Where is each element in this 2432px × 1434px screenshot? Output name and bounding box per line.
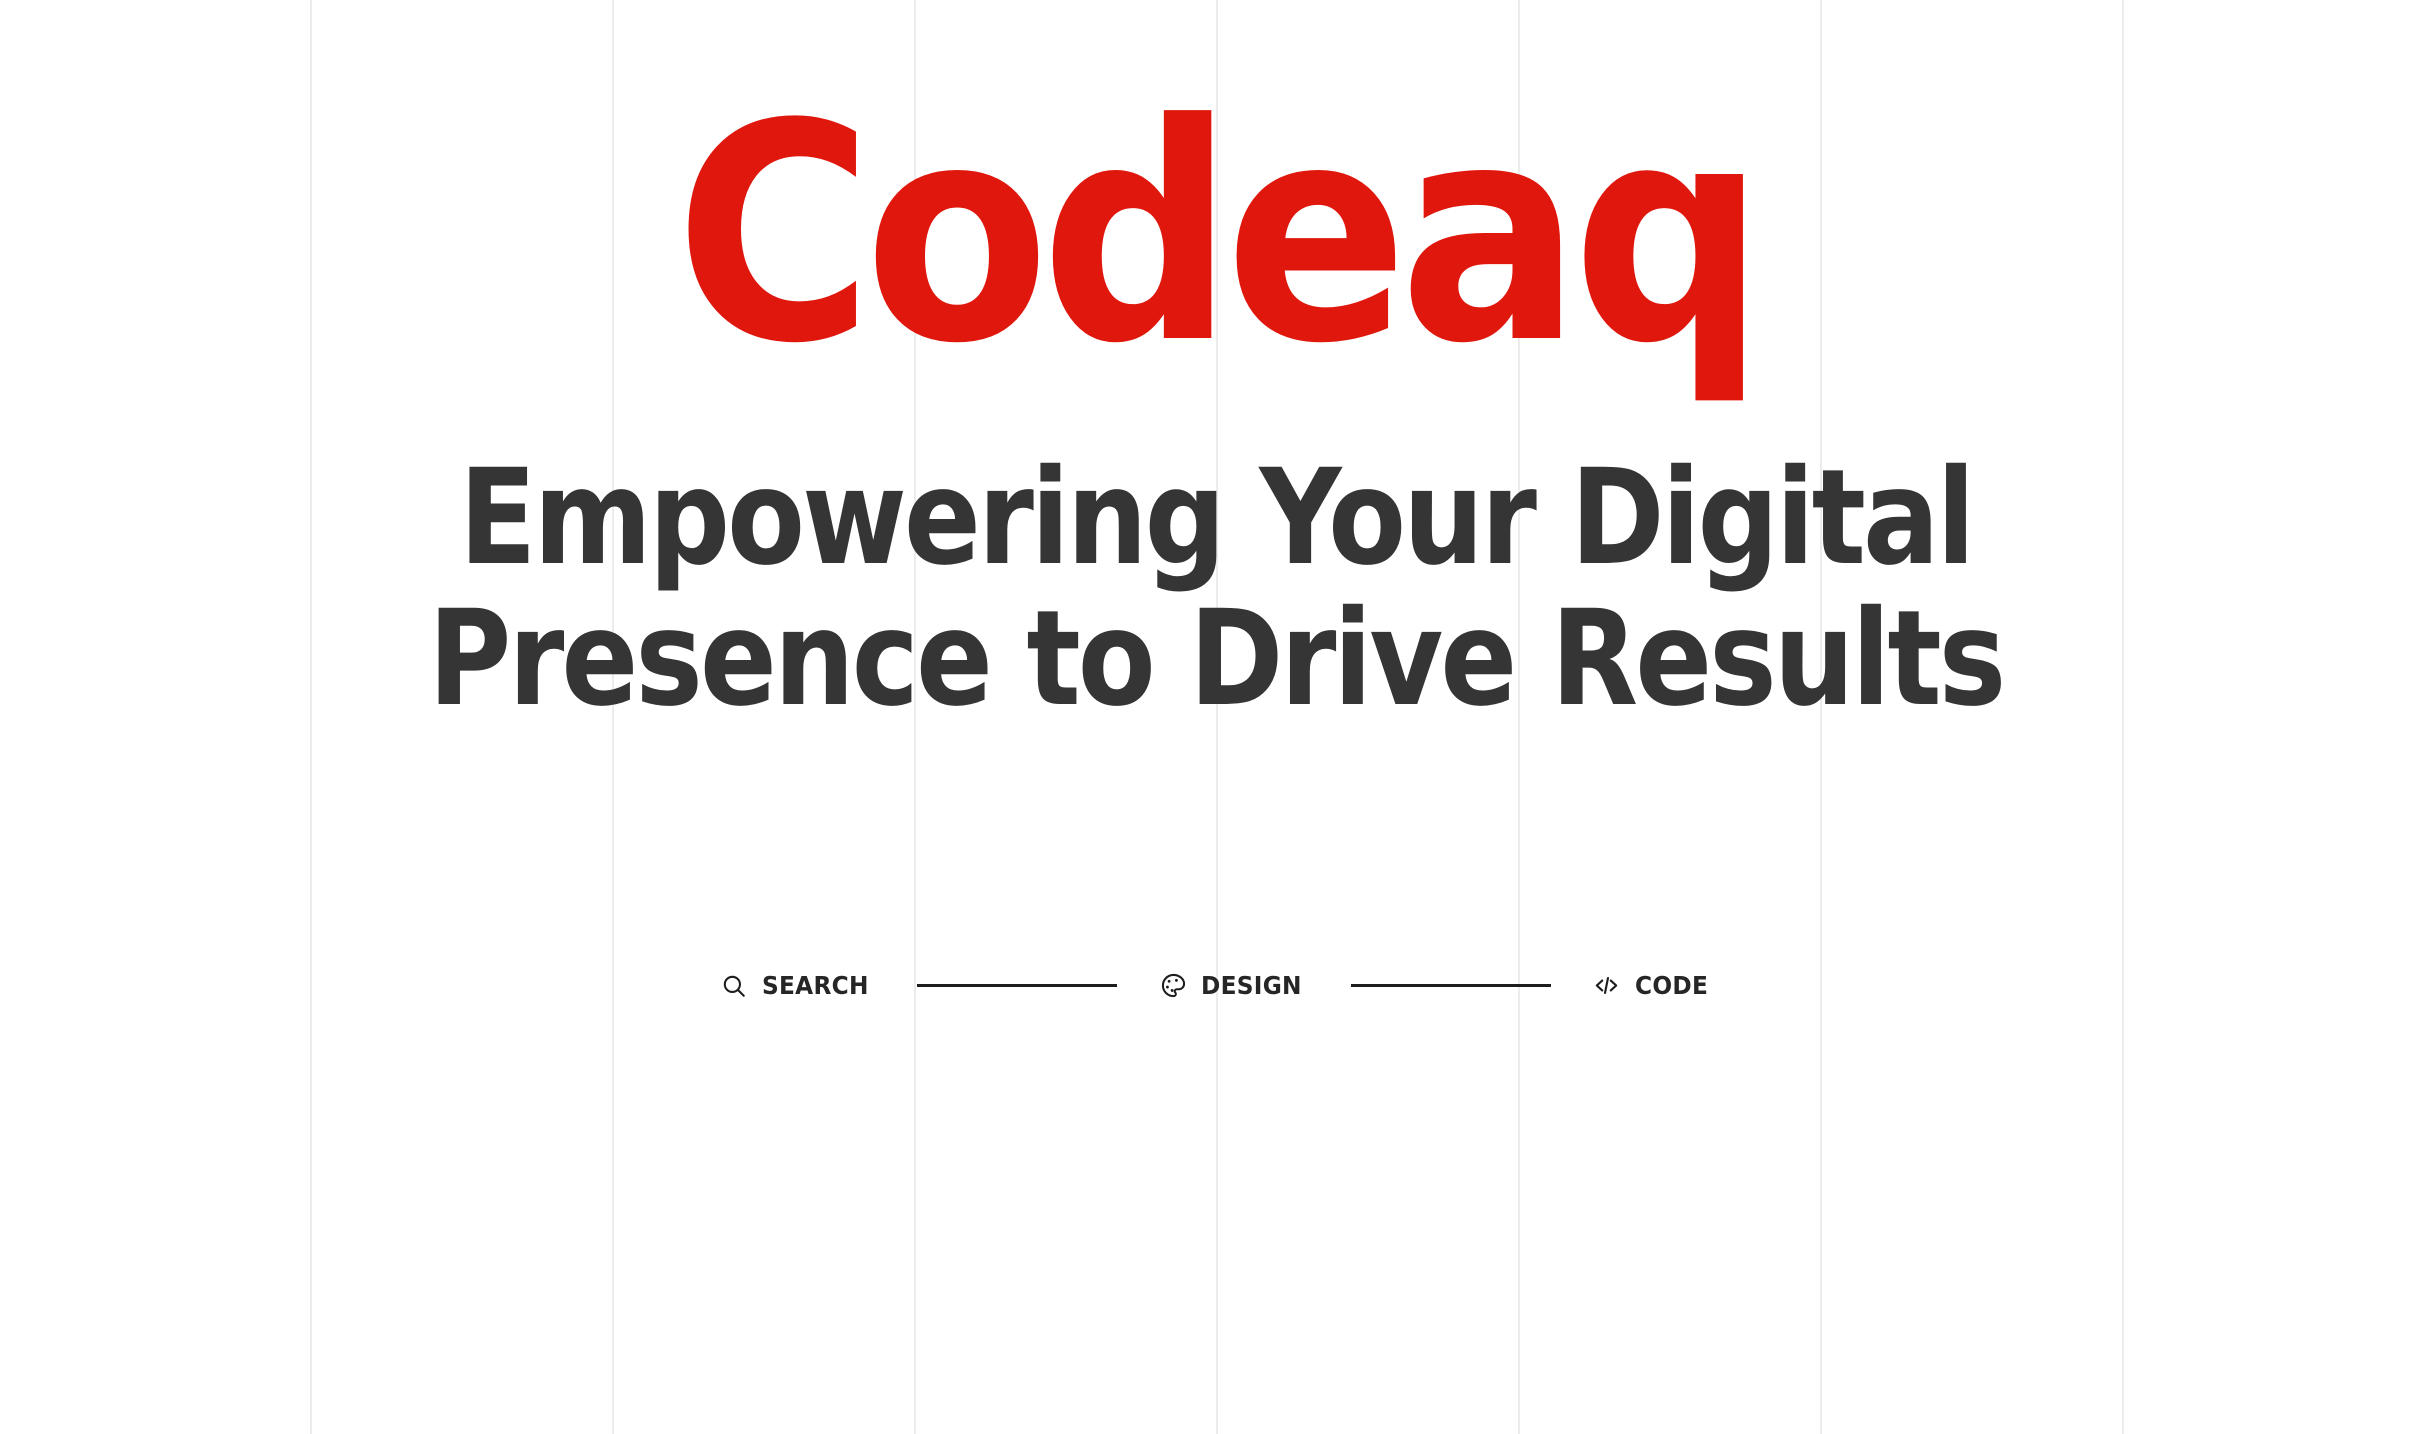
process-connector bbox=[1351, 984, 1551, 987]
process-step-label: DESIGN bbox=[1201, 971, 1302, 1000]
process-step-design[interactable]: DESIGN bbox=[1158, 971, 1309, 1001]
process-step-label: SEARCH bbox=[762, 971, 869, 1000]
brand-wordmark: Codeaq bbox=[675, 118, 1757, 352]
headline-line-2: Presence to Drive Results bbox=[428, 589, 2003, 730]
code-icon bbox=[1592, 971, 1622, 1001]
process-step-label: CODE bbox=[1635, 971, 1708, 1000]
headline-line-1: Empowering Your Digital bbox=[428, 448, 2003, 589]
search-icon bbox=[719, 971, 749, 1001]
hero-section: Codeaq Empowering Your Digital Presence … bbox=[0, 0, 2432, 1434]
page-title: Empowering Your Digital Presence to Driv… bbox=[428, 448, 2003, 730]
process-step-search[interactable]: SEARCH bbox=[719, 971, 877, 1001]
process-step-code[interactable]: CODE bbox=[1592, 971, 1714, 1001]
palette-icon bbox=[1158, 971, 1188, 1001]
process-connector bbox=[917, 984, 1117, 987]
process-steps: SEARCH DESIGN bbox=[719, 971, 1714, 1001]
